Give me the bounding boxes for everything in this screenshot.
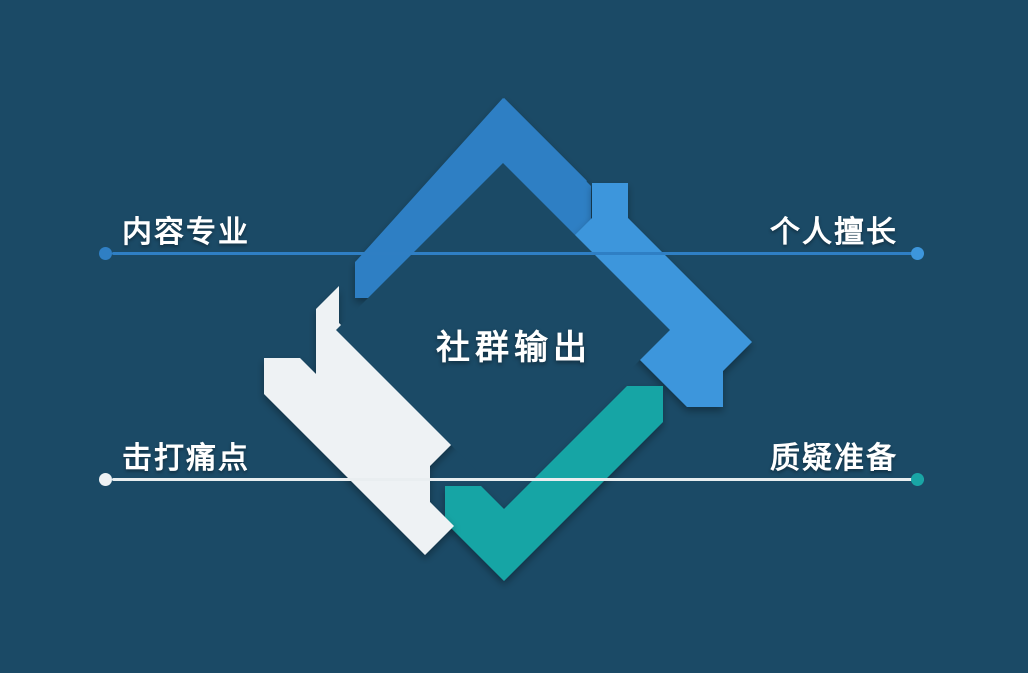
diagram-canvas: 内容专业 个人擅长 击打痛点 质疑准备 社群输出: [0, 0, 1028, 673]
connector-line-top: [112, 252, 924, 255]
corner-label-doubt-prep: 质疑准备: [770, 433, 898, 477]
connector-dot-bottom-left[interactable]: [99, 473, 112, 486]
corner-label-pain-point: 击打痛点: [122, 433, 250, 477]
cycle-arrows-graphic: [0, 0, 1028, 673]
connector-dot-top-left[interactable]: [99, 247, 112, 260]
corner-label-personal-strength: 个人擅长: [770, 207, 898, 251]
connector-dot-bottom-right[interactable]: [911, 473, 924, 486]
corner-label-content-pro: 内容专业: [122, 207, 250, 251]
connector-line-bottom: [112, 478, 924, 481]
connector-dot-top-right[interactable]: [911, 247, 924, 260]
